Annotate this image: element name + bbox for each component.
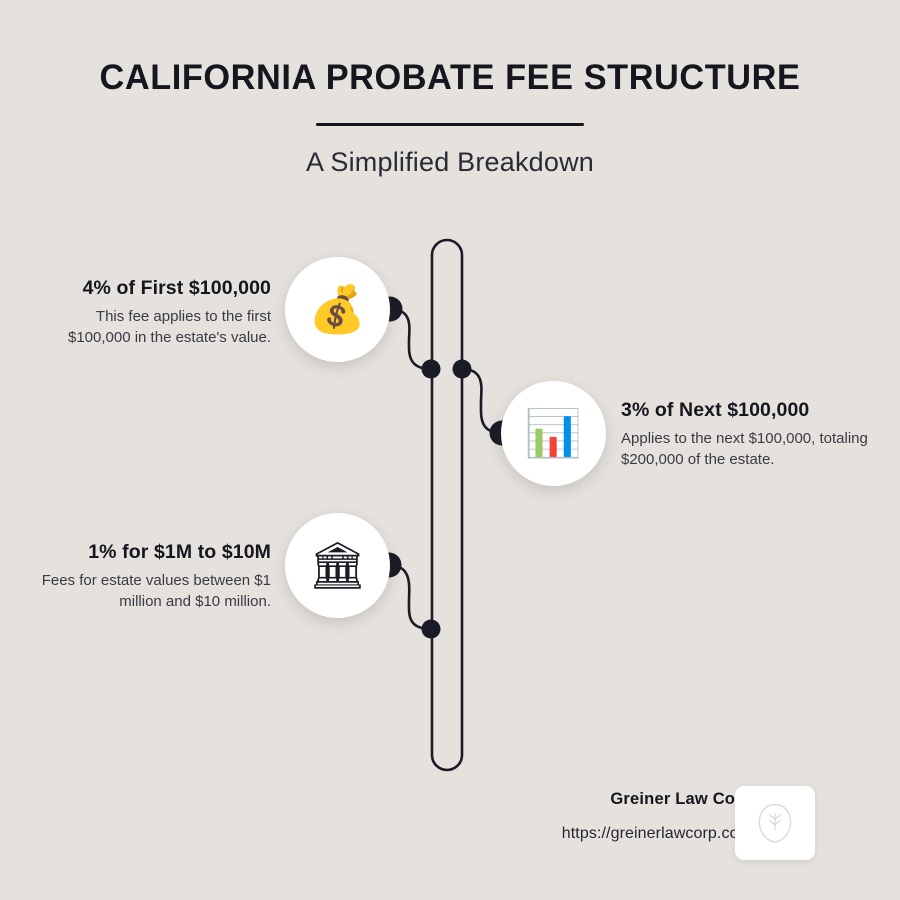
fee-item-2: 3% of Next $100,000 Applies to the next … — [621, 399, 871, 471]
money-bag-icon: 💰 — [285, 257, 390, 362]
classical-building-glyph: 🏛 — [308, 542, 366, 588]
fee-item-3: 1% for $1M to $10M Fees for estate value… — [33, 541, 271, 613]
node-dot-small-1 — [422, 360, 441, 379]
brand-url[interactable]: https://greinerlawcorp.com — [562, 824, 752, 843]
tree-shield-logo-icon — [753, 801, 797, 845]
fee-item-3-description: Fees for estate values between $1 millio… — [33, 571, 271, 612]
node-dot-small-3 — [422, 620, 441, 639]
brand-logo-box — [735, 786, 815, 860]
fee-item-1: 4% of First $100,000 This fee applies to… — [33, 277, 271, 349]
branch-path-1 — [390, 309, 431, 369]
bar-chart-icon: 📊 — [501, 381, 606, 486]
fee-item-2-description: Applies to the next $100,000, totaling $… — [621, 429, 871, 470]
branch-path-3 — [389, 565, 431, 629]
brand-name: Greiner Law Corp — [562, 790, 752, 810]
node-dot-small-2 — [453, 360, 472, 379]
page-title: CALIFORNIA PROBATE FEE STRUCTURE — [9, 58, 891, 97]
bar-chart-glyph: 📊 — [525, 410, 582, 456]
fee-item-1-title: 4% of First $100,000 — [33, 277, 271, 300]
money-bag-glyph: 💰 — [309, 286, 366, 332]
header: CALIFORNIA PROBATE FEE STRUCTURE A Simpl… — [0, 58, 900, 178]
page-subtitle: A Simplified Breakdown — [0, 147, 900, 178]
fee-item-3-title: 1% for $1M to $10M — [33, 541, 271, 564]
fee-item-2-title: 3% of Next $100,000 — [621, 399, 871, 422]
title-divider — [316, 123, 584, 126]
branch-path-2 — [462, 369, 502, 433]
footer-brand-block: Greiner Law Corp https://greinerlawcorp.… — [562, 790, 752, 843]
fee-item-1-description: This fee applies to the first $100,000 i… — [33, 307, 271, 348]
central-spine-path — [432, 240, 462, 770]
classical-building-icon: 🏛 — [285, 513, 390, 618]
infographic-canvas: CALIFORNIA PROBATE FEE STRUCTURE A Simpl… — [0, 0, 900, 900]
